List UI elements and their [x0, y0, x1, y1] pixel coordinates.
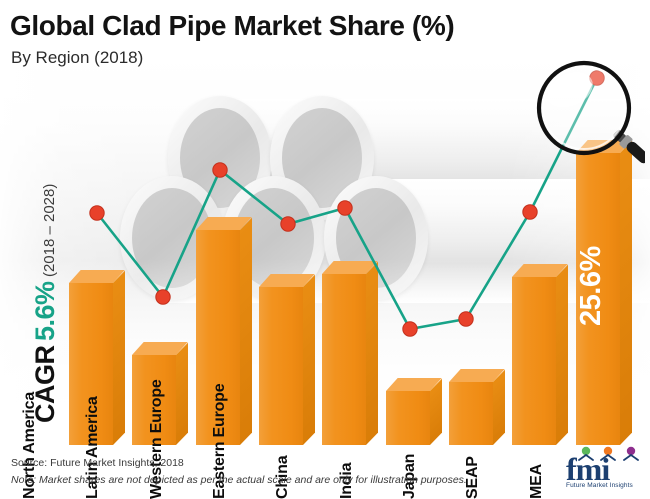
trend-marker: [213, 163, 227, 177]
fmi-wordmark: fmi: [566, 454, 644, 484]
fmi-logo[interactable]: fmi Future Market Insights: [566, 447, 644, 491]
magnifier-icon: [523, 58, 645, 178]
trend-marker: [338, 201, 352, 215]
note-text: Note: Market shares are not depicted as …: [11, 474, 467, 486]
trend-marker: [523, 205, 537, 219]
trend-marker: [281, 217, 295, 231]
source-text: Source: Future Market Insights, 2018: [11, 457, 184, 469]
chart-canvas: Global Clad Pipe Market Share (%) By Reg…: [0, 0, 650, 499]
fmi-tagline: Future Market Insights: [566, 482, 644, 489]
trend-marker: [90, 206, 104, 220]
trend-marker: [403, 322, 417, 336]
trend-marker: [459, 312, 473, 326]
trend-marker: [156, 290, 170, 304]
